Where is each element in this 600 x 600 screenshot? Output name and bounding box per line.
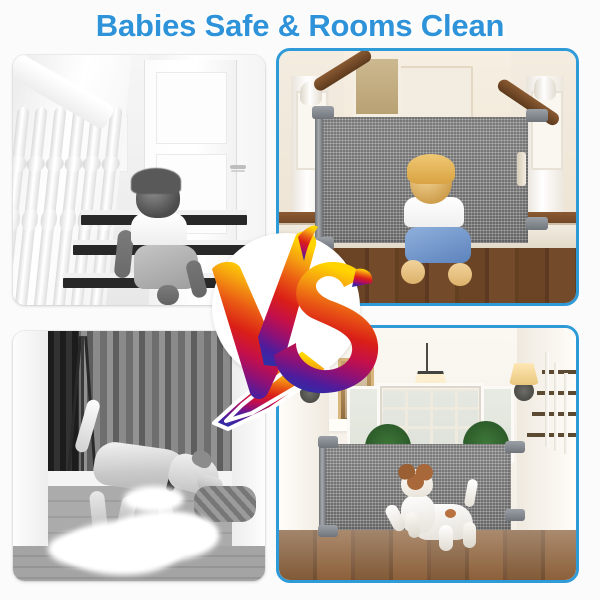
gate-bracket-bottom-left: [318, 525, 338, 537]
baby-foot: [401, 260, 425, 284]
stuffing-fluff: [144, 516, 216, 550]
door-handle-icon: [230, 165, 246, 169]
stair-spindle: [554, 363, 558, 451]
door-jamb-left: [13, 331, 48, 581]
gate-bracket-top-right: [526, 109, 548, 122]
baby-foot: [448, 263, 472, 286]
gate-roller-post: [319, 439, 326, 535]
stuffing-fluff: [48, 531, 128, 567]
gate-bracket-top-left: [312, 106, 334, 119]
versus-badge: VS: [212, 233, 360, 381]
baby-foot: [157, 285, 179, 305]
newel-cap: [534, 76, 556, 100]
baby-hair: [131, 168, 181, 194]
gate-bracket-bottom-right: [505, 509, 525, 521]
baby-hair: [407, 154, 455, 184]
shredded-toy: [194, 486, 256, 522]
gate-latch: [517, 152, 526, 186]
gate-bracket-top-right: [505, 441, 525, 453]
dog-leg: [463, 522, 476, 548]
stair-step: [527, 433, 576, 437]
gate-bracket-bottom-right: [526, 217, 548, 230]
staircase: [517, 338, 576, 514]
versus-badge-artwork: [178, 217, 394, 433]
stair-spindle: [545, 352, 549, 447]
page-title: Babies Safe & Rooms Clean: [0, 8, 600, 44]
gate-bracket-top-left: [318, 436, 338, 448]
stuffing-fluff: [124, 486, 184, 512]
floor-lamp-leg: [81, 336, 84, 476]
baby-shorts: [405, 227, 471, 263]
stair-spindle: [564, 373, 568, 454]
chandelier-rod: [426, 343, 428, 373]
promo-canvas: Babies Safe & Rooms Clean: [0, 0, 600, 600]
dog-leg: [439, 525, 453, 551]
